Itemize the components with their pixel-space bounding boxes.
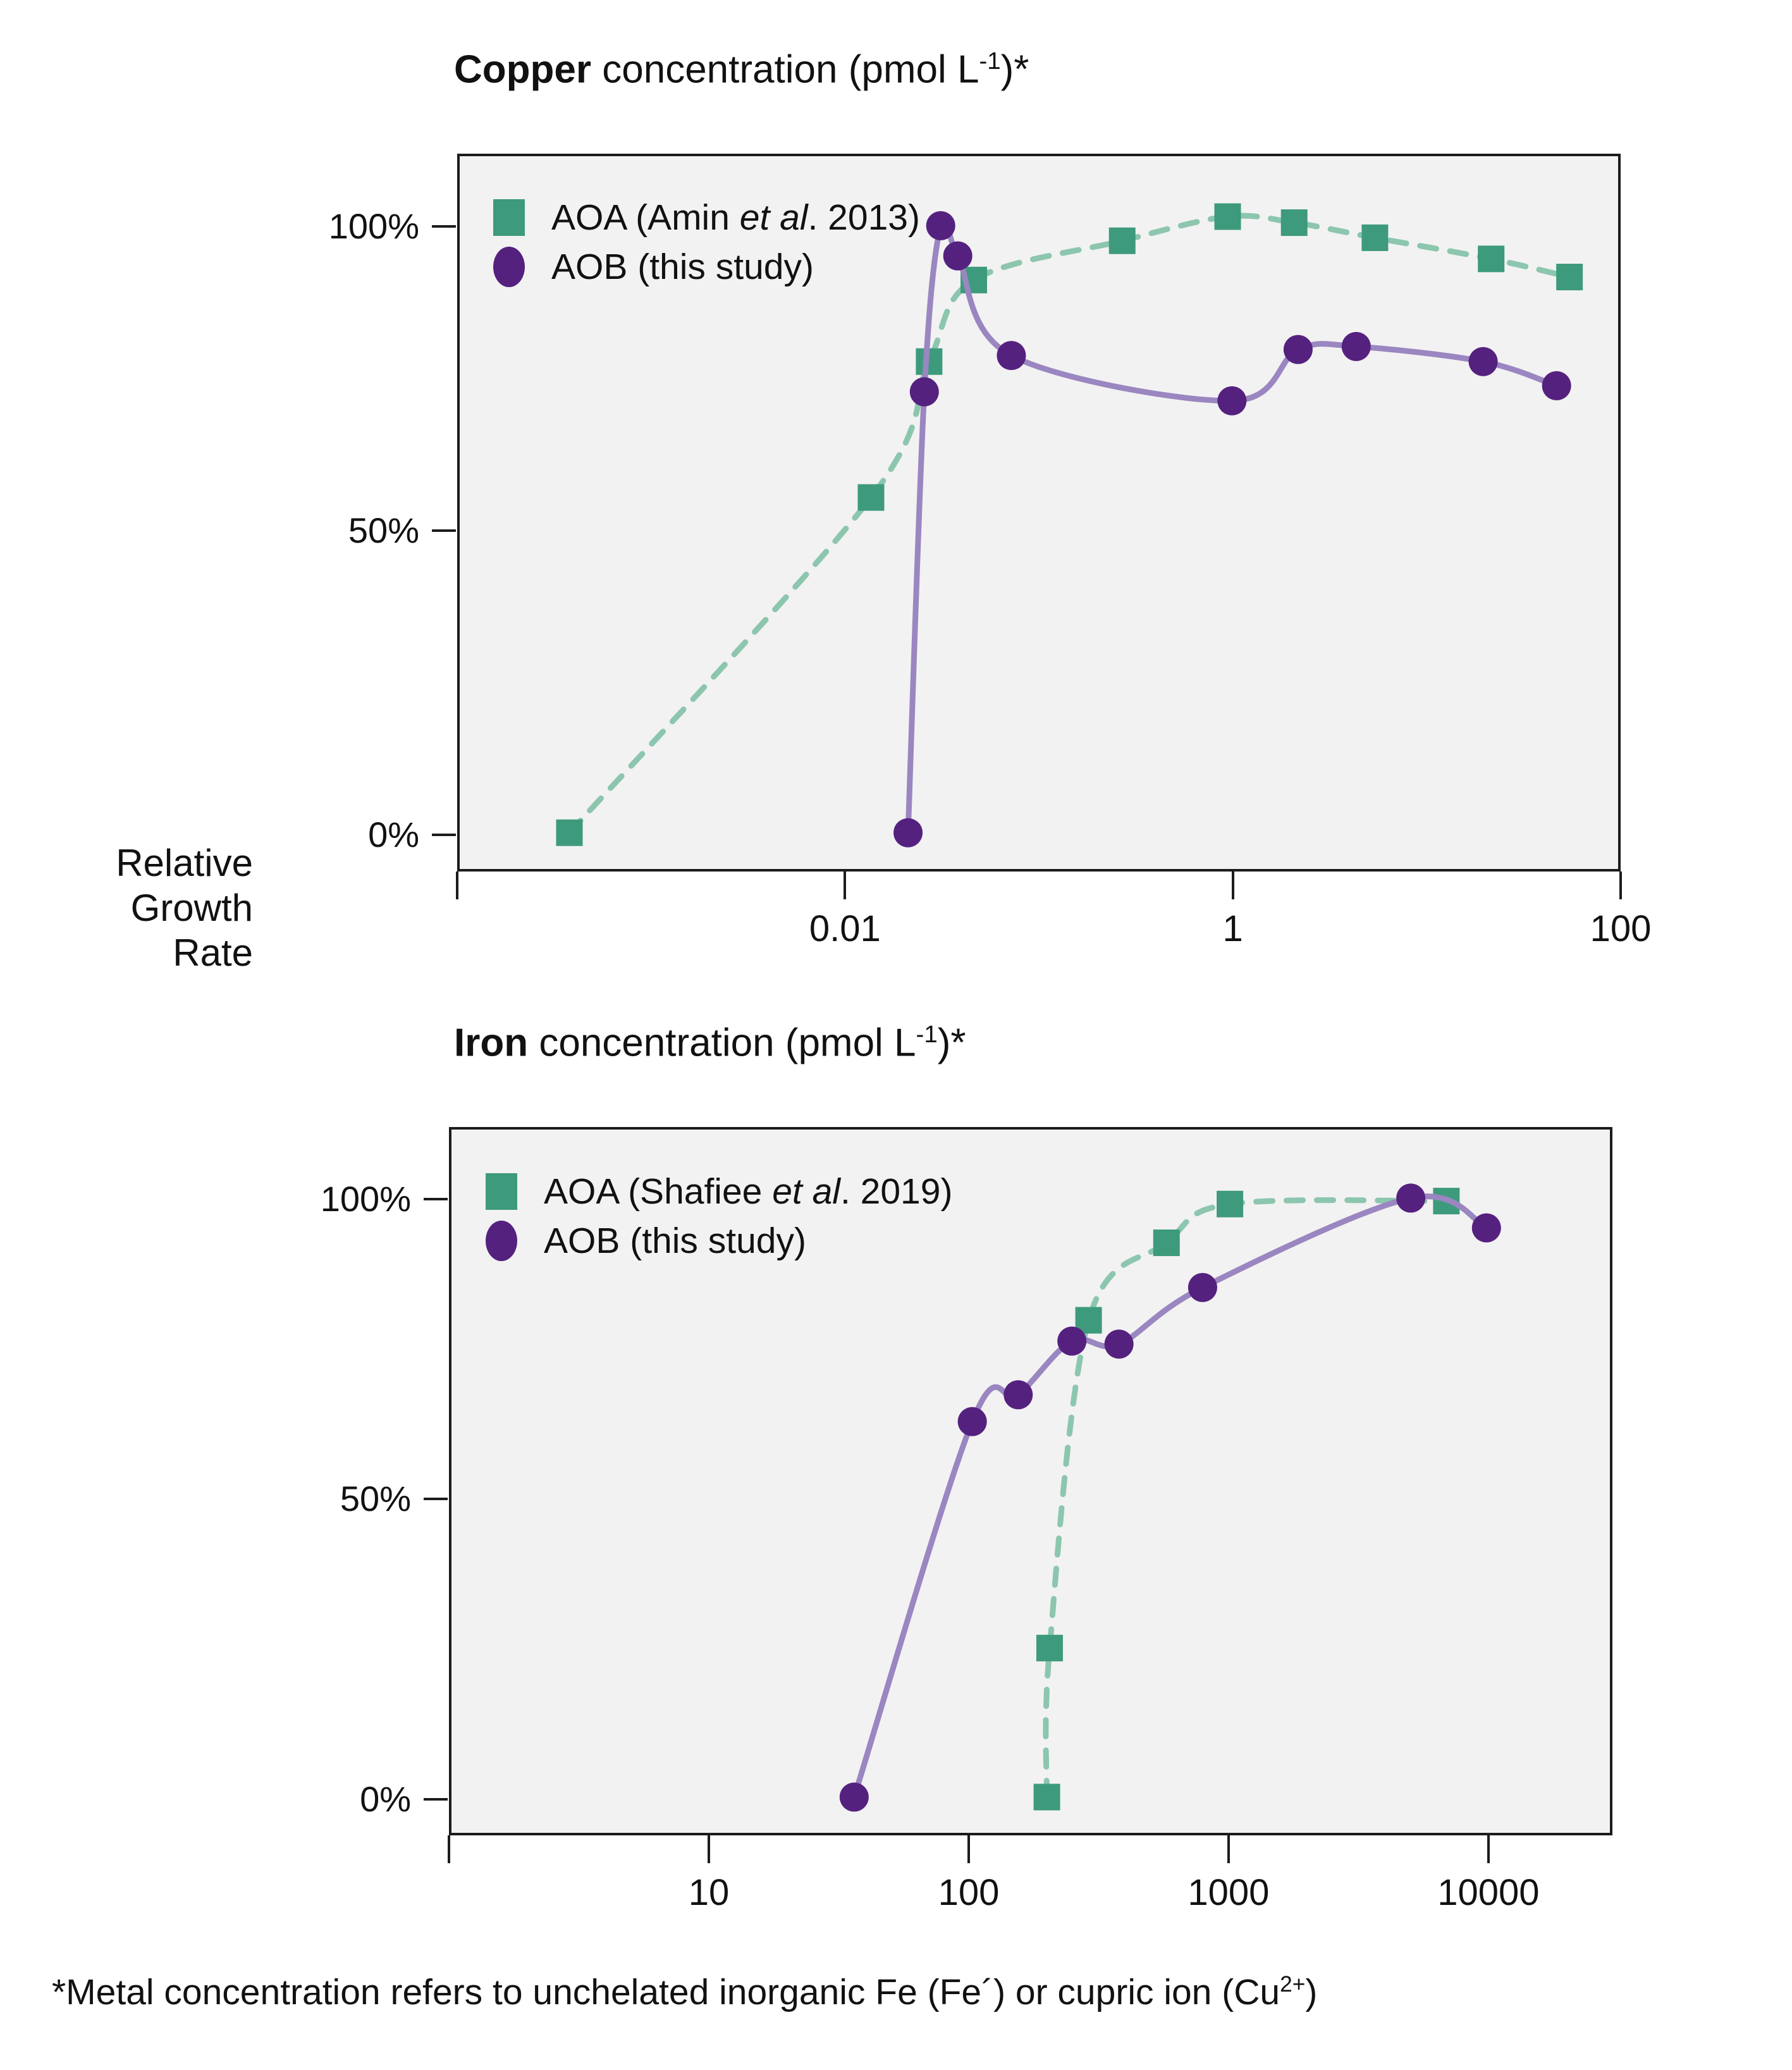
- iron-x-tick-mark: [708, 1835, 710, 1863]
- copper-y-tick-label: 50%: [192, 513, 419, 548]
- copper-legend-row-aoa[interactable]: AOA (Amin et al. 2013): [493, 193, 920, 242]
- copper-aob-data-point: [1342, 332, 1371, 361]
- aoa-square-marker-icon: [486, 1173, 517, 1210]
- copper-title-superscript: -1: [979, 47, 1000, 75]
- copper-y-tick-label: 100%: [192, 209, 419, 244]
- iron-title-tail: )*: [938, 1021, 966, 1065]
- iron-legend: AOA (Shafiee et al. 2019) AOB (this stud…: [486, 1167, 952, 1266]
- iron-aob-data-point: [1057, 1327, 1086, 1356]
- copper-aoa-trend-line: [569, 216, 1569, 833]
- aob-circle-marker-icon: [486, 1221, 517, 1261]
- iron-x-tick-label: 100: [842, 1875, 1095, 1911]
- copper-aoa-data-point: [1109, 228, 1136, 254]
- iron-aoa-data-point: [1153, 1229, 1180, 1256]
- copper-x-tick-mark: [1619, 872, 1622, 899]
- iron-aob-data-point: [1472, 1213, 1501, 1242]
- iron-x-tick-label: 10000: [1362, 1875, 1615, 1911]
- copper-aob-data-point: [926, 211, 955, 240]
- iron-x-tick-label: 1000: [1102, 1875, 1355, 1911]
- iron-y-tick-label: 0%: [183, 1782, 411, 1817]
- iron-aob-data-point: [1188, 1273, 1217, 1302]
- iron-aoa-data-point: [1036, 1635, 1063, 1661]
- aob-circle-marker-icon: [493, 247, 525, 287]
- iron-x-tick-mark: [1227, 1835, 1230, 1863]
- copper-aoa-data-point: [1215, 204, 1241, 230]
- copper-x-tick-mark: [456, 872, 458, 899]
- iron-aoa-data-point: [1217, 1191, 1243, 1217]
- y-axis-label-line-3: Rate: [38, 931, 253, 976]
- iron-aob-data-point: [1396, 1183, 1425, 1212]
- copper-y-tick-mark: [432, 225, 456, 228]
- iron-x-tick-label: 10: [582, 1875, 835, 1911]
- iron-legend-row-aob[interactable]: AOB (this study): [486, 1216, 952, 1266]
- iron-aob-trend-line: [854, 1197, 1487, 1797]
- iron-x-tick-mark: [967, 1835, 970, 1863]
- copper-aob-data-point: [910, 377, 939, 406]
- copper-y-tick-label: 0%: [192, 817, 419, 853]
- copper-legend-row-aob[interactable]: AOB (this study): [493, 242, 920, 292]
- copper-aob-data-point: [893, 818, 923, 847]
- y-axis-label-line-2: Growth: [38, 886, 253, 931]
- copper-x-tick-mark: [844, 872, 846, 899]
- iron-y-tick-mark: [424, 1798, 448, 1801]
- copper-aob-data-point: [1217, 386, 1246, 416]
- iron-legend-row-aoa[interactable]: AOA (Shafiee et al. 2019): [486, 1167, 952, 1216]
- iron-aob-data-point: [840, 1782, 869, 1811]
- copper-aoa-data-point: [857, 484, 884, 511]
- iron-legend-label-aoa: AOA (Shafiee et al. 2019): [544, 1174, 952, 1210]
- iron-x-tick-mark: [1487, 1835, 1490, 1863]
- copper-x-tick-mark: [1232, 872, 1234, 899]
- copper-aob-data-point: [1469, 347, 1498, 376]
- iron-x-tick-mark: [448, 1835, 450, 1863]
- footnote-text: *Metal concentration refers to unchelate…: [52, 1972, 1280, 2012]
- copper-y-tick-mark: [432, 529, 456, 532]
- copper-title-tail: )*: [1001, 48, 1029, 92]
- iron-y-tick-mark: [424, 1198, 448, 1200]
- copper-aoa-data-point: [1556, 264, 1583, 290]
- footnote-superscript: 2+: [1280, 1972, 1305, 1997]
- copper-title-rest: concentration (pmol L: [591, 48, 979, 92]
- iron-aob-data-point: [1003, 1380, 1033, 1409]
- copper-x-tick-label: 1: [1107, 911, 1359, 947]
- iron-legend-label-aob: AOB (this study): [544, 1223, 806, 1259]
- copper-aoa-data-point: [1478, 245, 1504, 272]
- copper-legend-label-aoa: AOA (Amin et al. 2013): [551, 200, 920, 236]
- y-axis-label: Relative Growth Rate: [38, 841, 253, 975]
- copper-aoa-data-point: [556, 820, 582, 846]
- aoa-square-marker-icon: [493, 199, 525, 236]
- iron-aoa-trend-line: [1046, 1200, 1447, 1797]
- figure-footnote: *Metal concentration refers to unchelate…: [52, 1973, 1317, 2011]
- iron-title-superscript: -1: [916, 1021, 938, 1048]
- iron-title-rest: concentration (pmol L: [528, 1021, 916, 1065]
- copper-aoa-data-point: [1281, 209, 1308, 236]
- footnote-tail: ): [1305, 1972, 1317, 2012]
- copper-panel-title: Copper concentration (pmol L-1)*: [454, 49, 1029, 90]
- copper-x-tick-label: 100: [1494, 911, 1747, 947]
- copper-aob-data-point: [997, 341, 1026, 370]
- iron-title-bold: Iron: [454, 1021, 528, 1065]
- iron-aob-data-point: [1105, 1329, 1134, 1358]
- copper-aob-data-point: [943, 242, 973, 271]
- iron-aob-data-point: [958, 1407, 987, 1436]
- copper-x-tick-label: 0.01: [718, 911, 971, 947]
- copper-title-bold: Copper: [454, 48, 591, 92]
- figure-canvas: Relative Growth Rate Copper concentratio…: [0, 0, 1792, 2070]
- iron-y-tick-label: 50%: [183, 1481, 411, 1517]
- copper-legend-label-aob: AOB (this study): [551, 249, 814, 285]
- copper-aob-trend-line: [908, 218, 1557, 832]
- iron-y-tick-label: 100%: [183, 1181, 411, 1217]
- iron-panel-title: Iron concentration (pmol L-1)*: [454, 1023, 966, 1063]
- copper-aob-data-point: [1284, 335, 1313, 364]
- copper-legend: AOA (Amin et al. 2013) AOB (this study): [493, 193, 920, 292]
- copper-aoa-data-point: [1361, 225, 1388, 251]
- iron-y-tick-mark: [424, 1498, 448, 1500]
- iron-aoa-data-point: [1034, 1784, 1060, 1810]
- copper-y-tick-mark: [432, 834, 456, 836]
- copper-aob-data-point: [1542, 371, 1571, 400]
